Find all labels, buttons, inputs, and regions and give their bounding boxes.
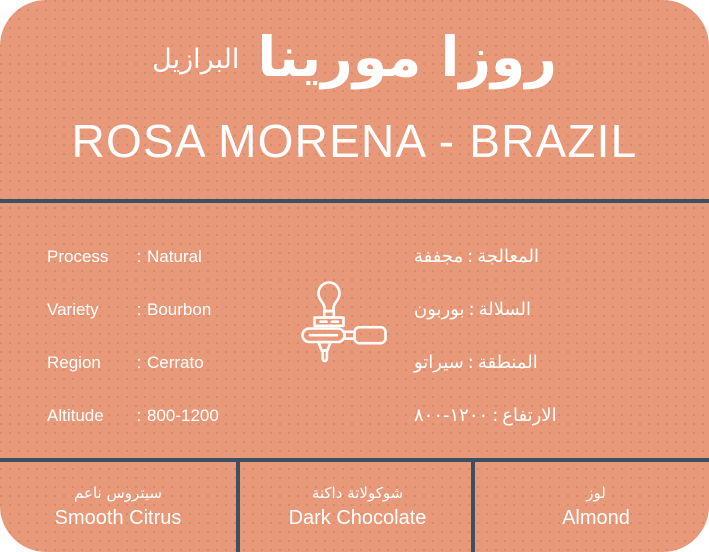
flavor-label-arabic: لوز (586, 484, 606, 502)
spec-row-altitude-en: Altitude : 800-1200 (47, 389, 307, 442)
spec-label-altitude-en: Altitude (47, 406, 131, 426)
spec-value-altitude-en: 800-1200 (147, 406, 219, 426)
spec-colon: : (131, 300, 147, 320)
spec-row-process-ar: المعالجة : مجففة (414, 230, 659, 283)
spec-value-process-ar: مجففة (414, 246, 463, 267)
page-title-latin: ROSA MORENA - BRAZIL (0, 116, 709, 167)
spec-label-region-ar: المنطقة (478, 352, 538, 373)
spec-row-region-en: Region : Cerrato (47, 336, 307, 389)
specifications-arabic: المعالجة : مجففة السلالة : بوربون المنطق… (414, 230, 659, 442)
flavor-note-item: سيتروس ناعم Smooth Citrus (0, 462, 236, 552)
spec-row-variety-en: Variety : Bourbon (47, 283, 307, 336)
spec-colon: : (463, 246, 477, 267)
spec-row-region-ar: المنطقة : سيراتو (414, 336, 659, 389)
spec-label-altitude-ar: الارتفاع (502, 405, 556, 426)
spec-label-process-ar: المعالجة (477, 246, 539, 267)
spec-colon: : (131, 353, 147, 373)
spec-value-variety-en: Bourbon (147, 300, 211, 320)
spec-colon: : (464, 352, 478, 373)
flavor-label-english: Almond (562, 506, 630, 530)
spec-row-process-en: Process : Natural (47, 230, 307, 283)
flavor-note-item: لوز Almond (479, 462, 709, 552)
flavor-note-item: شوكولاتة داكنة Dark Chocolate (240, 462, 475, 552)
specifications-english: Process : Natural Variety : Bourbon Regi… (47, 230, 307, 442)
spec-row-variety-ar: السلالة : بوربون (414, 283, 659, 336)
flavor-label-english: Dark Chocolate (289, 506, 427, 530)
spec-colon: : (131, 406, 147, 426)
coffee-label-card: روزا مورينا البرازيل ROSA MORENA - BRAZI… (0, 0, 709, 552)
flavor-label-english: Smooth Citrus (55, 506, 182, 530)
spec-label-process-en: Process (47, 247, 131, 267)
spec-label-region-en: Region (47, 353, 131, 373)
spec-value-process-en: Natural (147, 247, 202, 267)
spec-row-altitude-ar: الارتفاع : ١٢٠٠-٨٠٠ (414, 389, 659, 442)
spec-value-variety-ar: بوربون (414, 299, 465, 320)
flavor-notes-section: سيتروس ناعم Smooth Citrus شوكولاتة داكنة… (0, 462, 709, 552)
spec-value-region-en: Cerrato (147, 353, 204, 373)
flavor-label-arabic: سيتروس ناعم (74, 484, 162, 502)
label-header: روزا مورينا البرازيل ROSA MORENA - BRAZI… (0, 0, 709, 200)
spec-value-altitude-ar: ١٢٠٠-٨٠٠ (414, 405, 488, 426)
spec-colon: : (131, 247, 147, 267)
coffee-tamper-portafilter-icon (296, 279, 392, 367)
spec-colon: : (465, 299, 479, 320)
spec-colon: : (488, 405, 502, 426)
spec-label-variety-ar: السلالة (479, 299, 531, 320)
flavor-label-arabic: شوكولاتة داكنة (312, 484, 403, 502)
specifications-section: Process : Natural Variety : Bourbon Regi… (0, 203, 709, 458)
page-title-arabic: روزا مورينا (257, 30, 556, 85)
spec-label-variety-en: Variety (47, 300, 131, 320)
arabic-title-row: روزا مورينا البرازيل (0, 30, 709, 108)
spec-value-region-ar: سيراتو (414, 352, 464, 373)
origin-subtitle-arabic: البرازيل (152, 46, 239, 73)
